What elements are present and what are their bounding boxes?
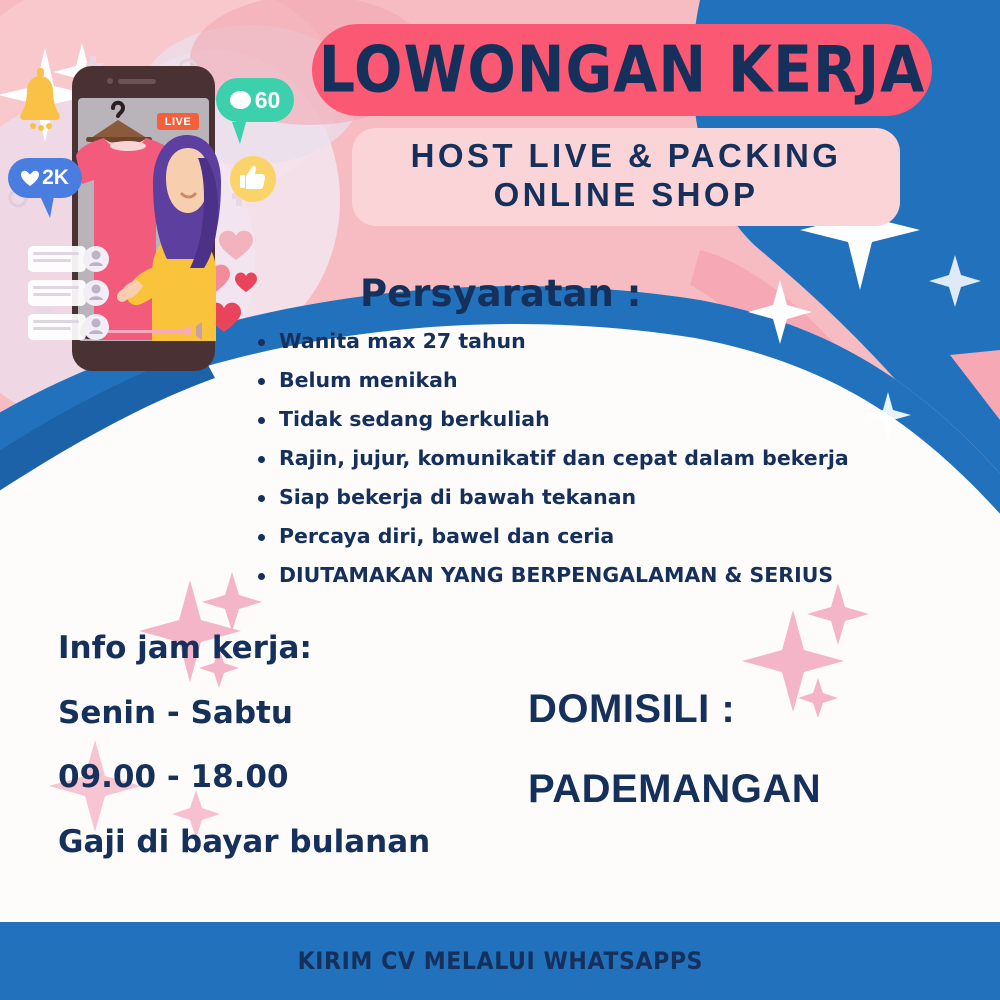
requirement-text: Percaya diri, bawel dan ceria [279, 525, 614, 548]
domicile-value: PADEMANGAN [528, 768, 821, 810]
bullet-icon [258, 339, 265, 346]
comment-icon [230, 91, 251, 110]
bullet-icon [258, 495, 265, 502]
live-shopping-illustration [0, 18, 300, 398]
list-item: DIUTAMAKAN YANG BERPENGALAMAN & SERIUS [258, 564, 898, 587]
list-item: Rajin, jujur, komunikatif dan cepat dala… [258, 447, 898, 470]
info-days: Senin - Sabtu [58, 697, 430, 730]
likes-count: 2K [42, 166, 69, 190]
domicile-label: DOMISILI : [528, 688, 821, 730]
likes-badge: 2K [8, 158, 82, 198]
requirements-list: Wanita max 27 tahun Belum menikah Tidak … [258, 330, 898, 603]
bullet-icon [258, 456, 265, 463]
info-heading: Info jam kerja: [58, 632, 430, 665]
bullet-icon [258, 573, 265, 580]
page-title: LOWONGAN KERJA [319, 33, 926, 107]
requirement-text: Siap bekerja di bawah tekanan [279, 486, 636, 509]
footer-text: KIRIM CV MELALUI WHATSAPPS [297, 947, 702, 975]
requirement-text: Belum menikah [279, 369, 458, 392]
comments-badge: 60 [216, 78, 294, 122]
subtitle-line-1: HOST LIVE & PACKING [411, 139, 842, 174]
poster-canvas: 2K 60 LIVE LOWONGAN KERJA HOST LIVE & PA… [0, 0, 1000, 1000]
title-banner: LOWONGAN KERJA [312, 24, 932, 116]
list-item: Wanita max 27 tahun [258, 330, 898, 353]
comment-bubbles [28, 246, 109, 340]
footer-bar: KIRIM CV MELALUI WHATSAPPS [0, 922, 1000, 1000]
requirements-heading: Persyaratan : [360, 272, 641, 315]
info-hours: 09.00 - 18.00 [58, 761, 430, 794]
requirement-text: Rajin, jujur, komunikatif dan cepat dala… [279, 447, 849, 470]
heart-icon [21, 170, 39, 187]
bullet-icon [258, 378, 265, 385]
requirement-text: Wanita max 27 tahun [279, 330, 526, 353]
list-item: Percaya diri, bawel dan ceria [258, 525, 898, 548]
work-info-block: Info jam kerja: Senin - Sabtu 09.00 - 18… [58, 632, 430, 890]
thumbs-up-icon [230, 156, 276, 202]
subtitle-line-2: ONLINE SHOP [494, 174, 759, 215]
live-badge: LIVE [157, 113, 199, 130]
bullet-icon [258, 417, 265, 424]
list-item: Belum menikah [258, 369, 898, 392]
comments-count: 60 [255, 87, 281, 114]
requirement-text: DIUTAMAKAN YANG BERPENGALAMAN & SERIUS [279, 564, 833, 587]
subtitle-banner: HOST LIVE & PACKING ONLINE SHOP [352, 128, 900, 226]
likes-bubble-tail [40, 196, 54, 218]
list-item: Tidak sedang berkuliah [258, 408, 898, 431]
domicile-block: DOMISILI : PADEMANGAN [528, 688, 821, 848]
comments-bubble-tail [232, 122, 246, 144]
requirement-text: Tidak sedang berkuliah [279, 408, 550, 431]
info-salary: Gaji di bayar bulanan [58, 826, 430, 859]
bullet-icon [258, 534, 265, 541]
list-item: Siap bekerja di bawah tekanan [258, 486, 898, 509]
